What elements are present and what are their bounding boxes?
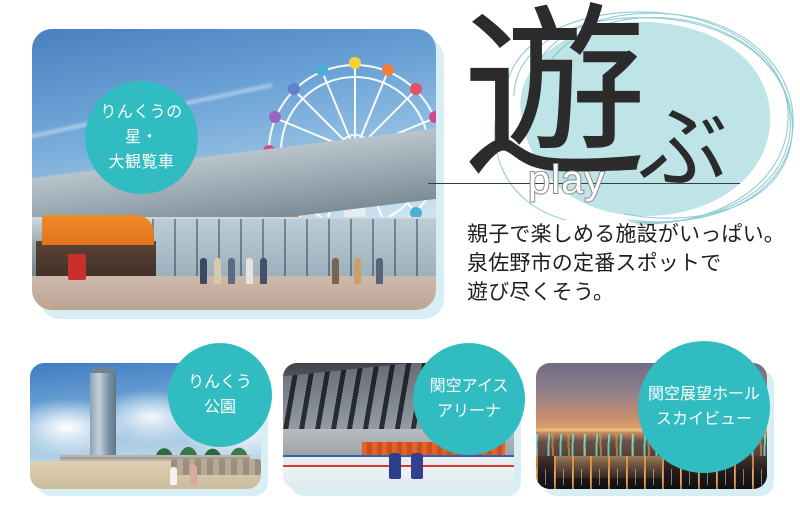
hero-photo-card[interactable]: りんくうの星・ 大観覧車 bbox=[32, 29, 436, 310]
hero-visitor bbox=[246, 258, 253, 284]
hero-visitor bbox=[200, 258, 207, 284]
thumb1-visitor bbox=[170, 467, 177, 485]
hero-visitor bbox=[332, 258, 339, 284]
thumbnail-badge: 関空アイス アリーナ bbox=[413, 343, 525, 455]
hero-visitor bbox=[354, 258, 361, 284]
hero-visitor bbox=[228, 258, 235, 284]
thumbnail-card-rinku-park[interactable]: りんくう 公園 bbox=[30, 363, 261, 489]
thumbnail-card-ice-arena[interactable]: 関空アイス アリーナ bbox=[283, 363, 514, 489]
thumbnail-badge: 関空展望ホール スカイビュー bbox=[638, 341, 770, 473]
hero-visitor bbox=[214, 258, 221, 284]
lead-paragraph: 親子で楽しめる施設がいっぱい。 泉佐野市の定番スポットで 遊び尽くそう。 bbox=[467, 220, 787, 307]
thumb1-rocks bbox=[171, 459, 261, 475]
hero-badge: りんくうの星・ 大観覧車 bbox=[85, 81, 198, 194]
thumbnail-badge-line2: 公園 bbox=[204, 395, 236, 420]
thumb2-skater bbox=[411, 453, 423, 479]
thumbnail-badge-line1: 関空展望ホール bbox=[648, 382, 760, 407]
page-root: りんくうの星・ 大観覧車 遊 ぶ play 親子で楽しめる施設がいっぱい。 泉佐… bbox=[0, 0, 800, 515]
hero-visitor bbox=[376, 258, 383, 284]
hero-visitor bbox=[260, 258, 267, 284]
thumb3-fence bbox=[536, 469, 767, 485]
thumbnail-badge: りんくう 公園 bbox=[168, 343, 272, 447]
lead-line-3: 遊び尽くそう。 bbox=[467, 278, 787, 307]
hero-glass-storefront bbox=[152, 219, 436, 281]
thumbnail-badge-line2: アリーナ bbox=[437, 399, 501, 424]
hero-orange-awning bbox=[42, 215, 154, 245]
hero-shop-sign bbox=[68, 254, 86, 280]
lead-line-2: 泉佐野市の定番スポットで bbox=[467, 249, 787, 278]
thumb1-visitor bbox=[190, 465, 197, 485]
thumbnail-badge-line2: スカイビュー bbox=[656, 407, 752, 432]
page-title-romaji: play bbox=[528, 160, 605, 200]
thumbnail-badge-line1: 関空アイス bbox=[430, 374, 509, 399]
thumb1-gate-tower bbox=[90, 373, 116, 455]
hero-photo-image bbox=[32, 29, 436, 310]
hero-badge-line2: 大観覧車 bbox=[108, 150, 174, 175]
hero-badge-line1: りんくうの星・ bbox=[85, 100, 198, 150]
lead-line-1: 親子で楽しめる施設がいっぱい。 bbox=[467, 220, 787, 249]
thumb2-skater bbox=[389, 453, 401, 479]
thumbnail-card-sky-view[interactable]: 関空展望ホール スカイビュー bbox=[536, 363, 767, 489]
thumbnail-badge-line1: りんくう bbox=[188, 370, 252, 395]
page-title-kana: ぶ bbox=[638, 104, 728, 194]
